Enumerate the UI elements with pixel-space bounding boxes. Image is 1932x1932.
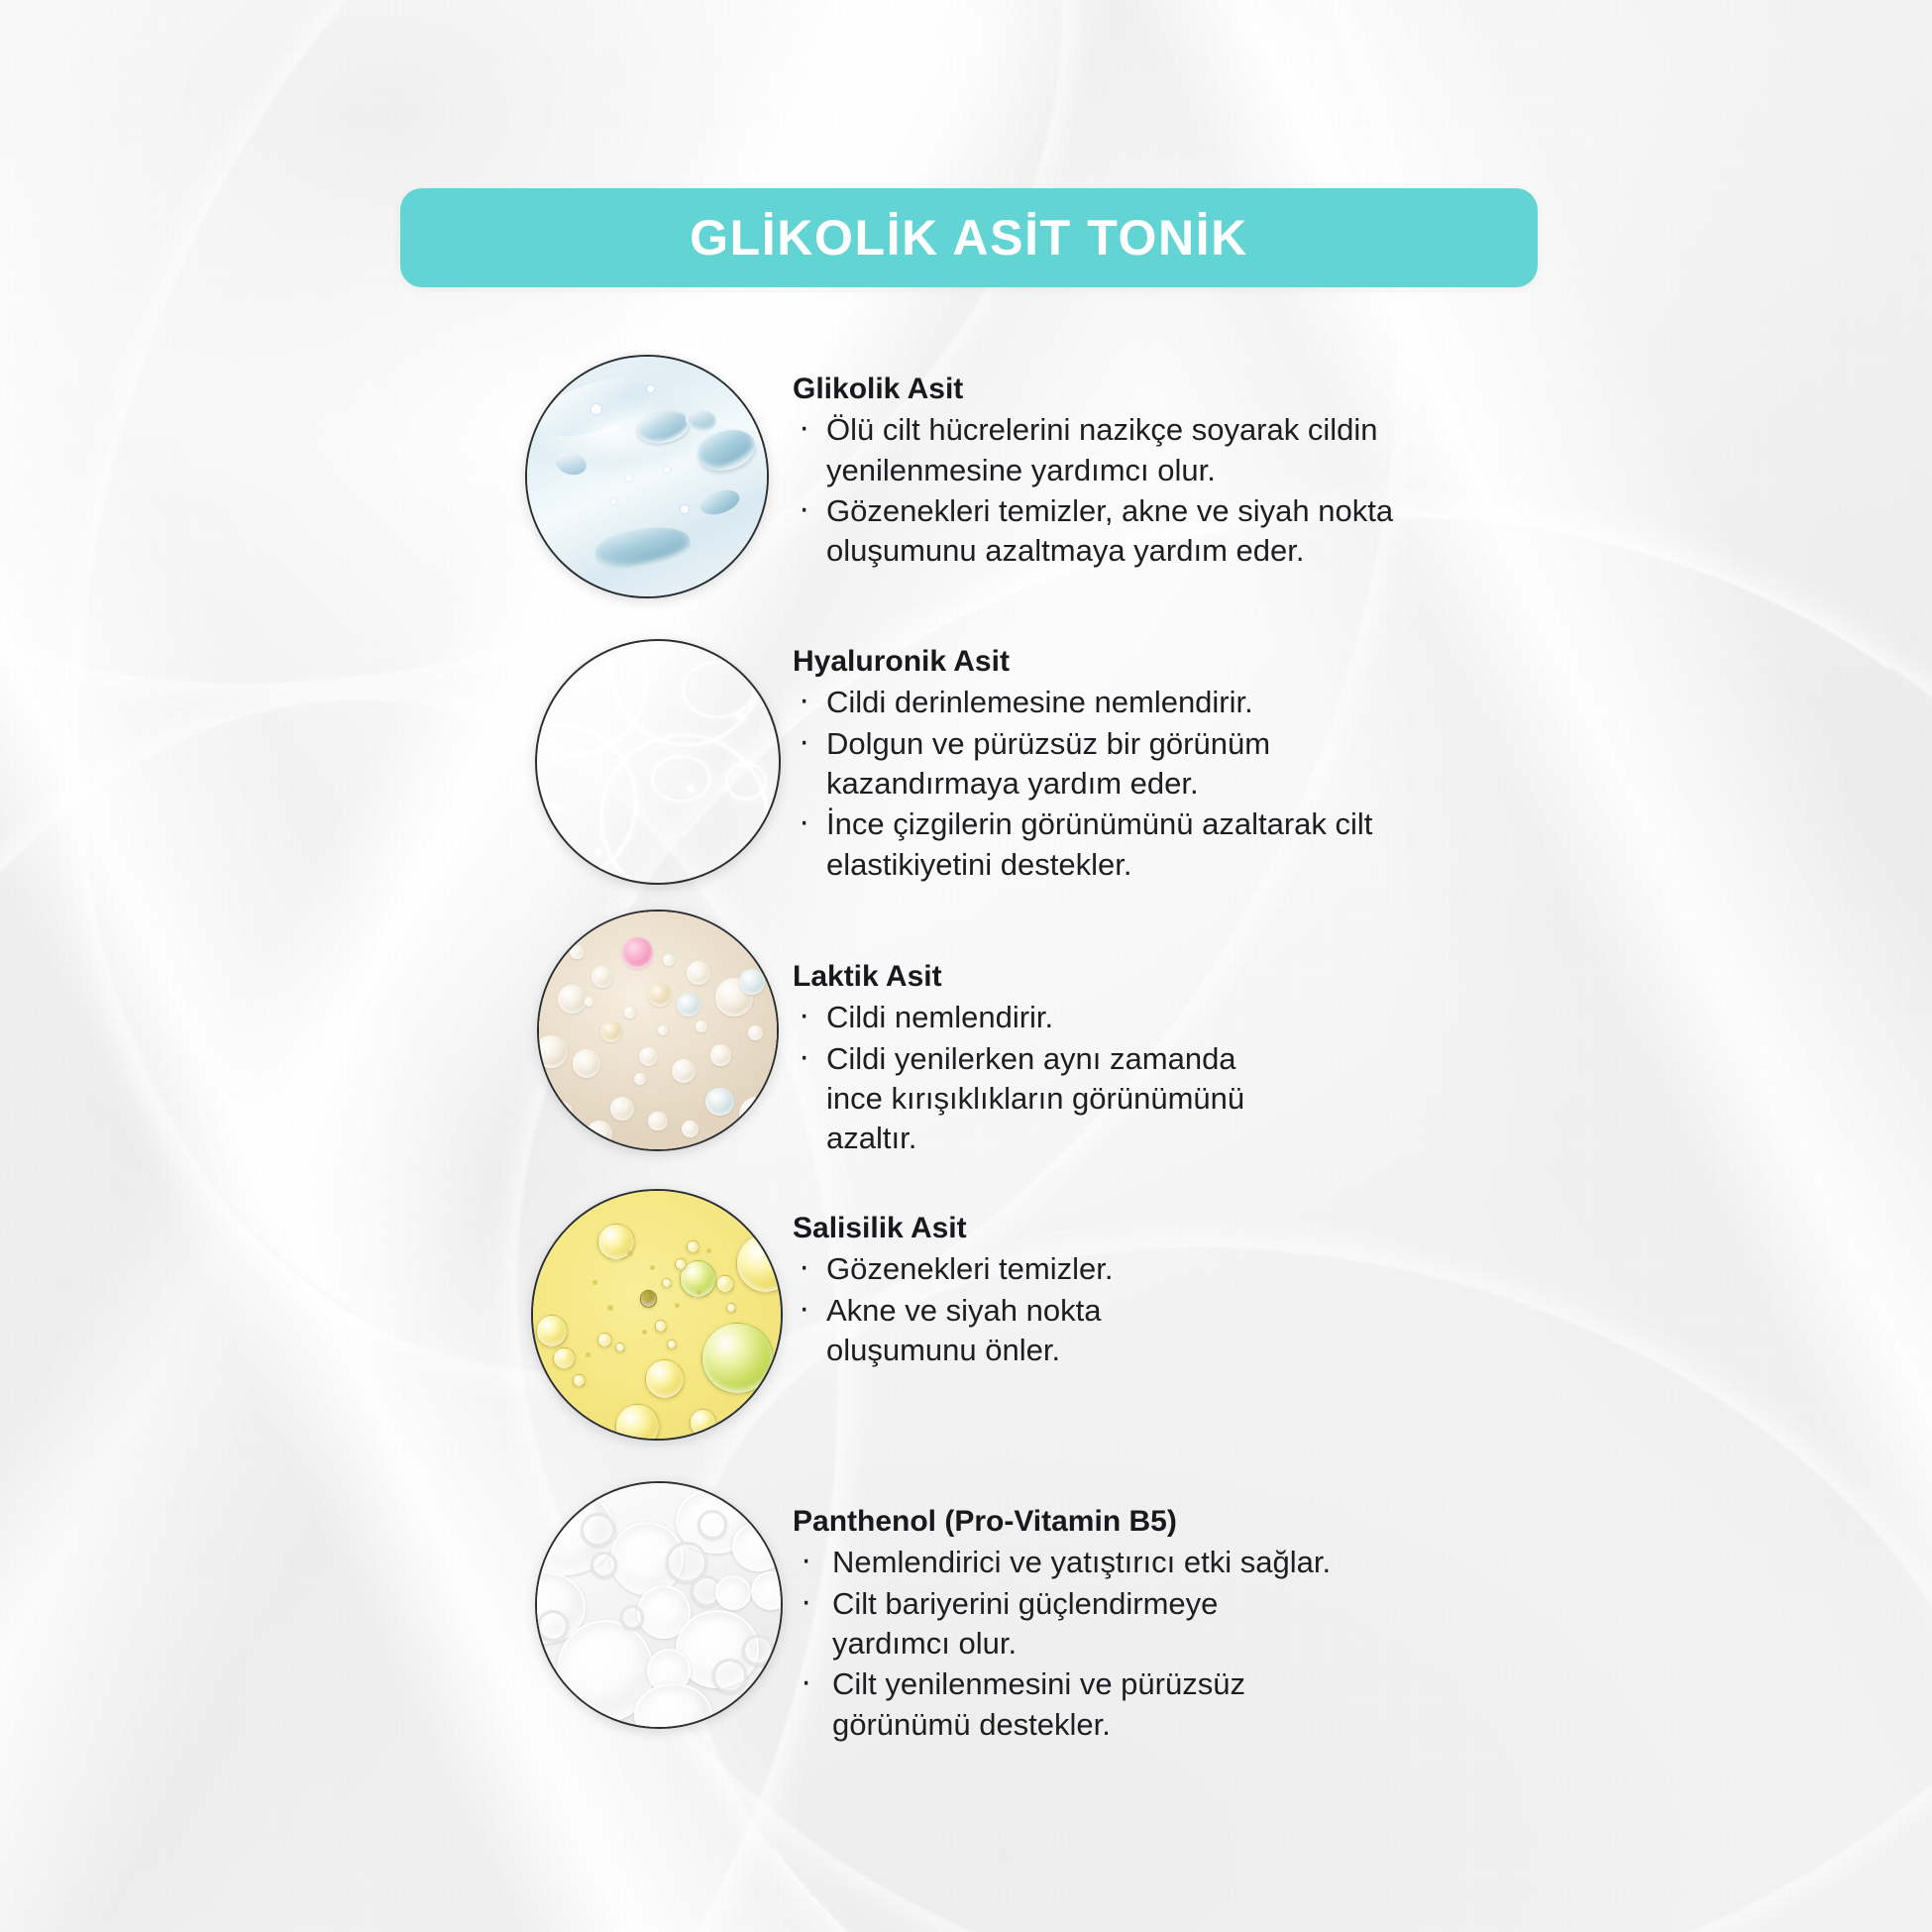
title-banner: GLİKOLİK ASİT TONİK bbox=[400, 188, 1538, 287]
page-title: GLİKOLİK ASİT TONİK bbox=[690, 213, 1248, 263]
ingredient-title: Salisilik Asit bbox=[793, 1211, 1347, 1245]
bullet-item: Dolgun ve pürüzsüz bir görünüm kazandırm… bbox=[793, 724, 1427, 805]
ingredient-copy-hyaluronik-asit: Hyaluronik Asit Cildi derinlemesine neml… bbox=[793, 644, 1427, 886]
ingredient-title: Laktik Asit bbox=[793, 959, 1387, 994]
bullet-item: Ölü cilt hücrelerini nazikçe soyarak cil… bbox=[793, 410, 1407, 490]
ingredient-copy-glikolik-asit: Glikolik Asit Ölü cilt hücrelerini nazik… bbox=[793, 372, 1407, 573]
bullet-item: İnce çizgilerin görünümünü azaltarak cil… bbox=[793, 805, 1427, 885]
salicylic-yellow-oil-thumbnail bbox=[531, 1189, 783, 1441]
bullet-item: Akne ve siyah nokta oluşumunu önler. bbox=[793, 1291, 1120, 1371]
poster-canvas: GLİKOLİK ASİT TONİK Glikolik Asit bbox=[0, 0, 1932, 1932]
bullet-item: Cildi derinlemesine nemlendirir. bbox=[793, 683, 1427, 722]
lactic-pearl-bubbles-thumbnail bbox=[537, 910, 779, 1151]
bullet-item: Nemlendirici ve yatıştırıcı etki sağlar. bbox=[793, 1543, 1407, 1582]
bullet-item: Gözenekleri temizler, akne ve siyah nokt… bbox=[793, 491, 1407, 572]
ingredient-title: Glikolik Asit bbox=[793, 372, 1407, 406]
ingredient-bullet-list: Ölü cilt hücrelerini nazikçe soyarak cil… bbox=[793, 410, 1407, 571]
bullet-item: Cilt bariyerini güçlendirmeye yardımcı o… bbox=[793, 1584, 1268, 1664]
bullet-item: Cildi nemlendirir. bbox=[793, 998, 1387, 1037]
glycolic-gel-bubbles-thumbnail bbox=[525, 355, 769, 598]
ingredient-bullet-list: Cildi nemlendirir. Cildi yenilerken aynı… bbox=[793, 998, 1387, 1158]
hyaluronic-blue-gel-thumbnail bbox=[535, 639, 781, 885]
bullet-item: Gözenekleri temizler. bbox=[793, 1249, 1347, 1289]
ingredient-bullet-list: Cildi derinlemesine nemlendirir. Dolgun … bbox=[793, 683, 1427, 884]
panthenol-foam-bubbles-thumbnail bbox=[535, 1481, 783, 1729]
ingredient-bullet-list: Gözenekleri temizler. Akne ve siyah nokt… bbox=[793, 1249, 1347, 1370]
ingredient-copy-panthenol: Panthenol (Pro-Vitamin B5) Nemlendirici … bbox=[793, 1504, 1407, 1746]
ingredient-copy-laktik-asit: Laktik Asit Cildi nemlendirir. Cildi yen… bbox=[793, 959, 1387, 1160]
ingredient-title: Hyaluronik Asit bbox=[793, 644, 1427, 679]
bullet-item: Cildi yenilerken aynı zamanda ince kırış… bbox=[793, 1039, 1268, 1159]
ingredient-bullet-list: Nemlendirici ve yatıştırıcı etki sağlar.… bbox=[793, 1543, 1407, 1744]
ingredient-copy-salisilik-asit: Salisilik Asit Gözenekleri temizler. Akn… bbox=[793, 1211, 1347, 1371]
bullet-item: Cilt yenilenmesini ve pürüzsüz görünümü … bbox=[793, 1664, 1288, 1745]
ingredient-title: Panthenol (Pro-Vitamin B5) bbox=[793, 1504, 1407, 1539]
